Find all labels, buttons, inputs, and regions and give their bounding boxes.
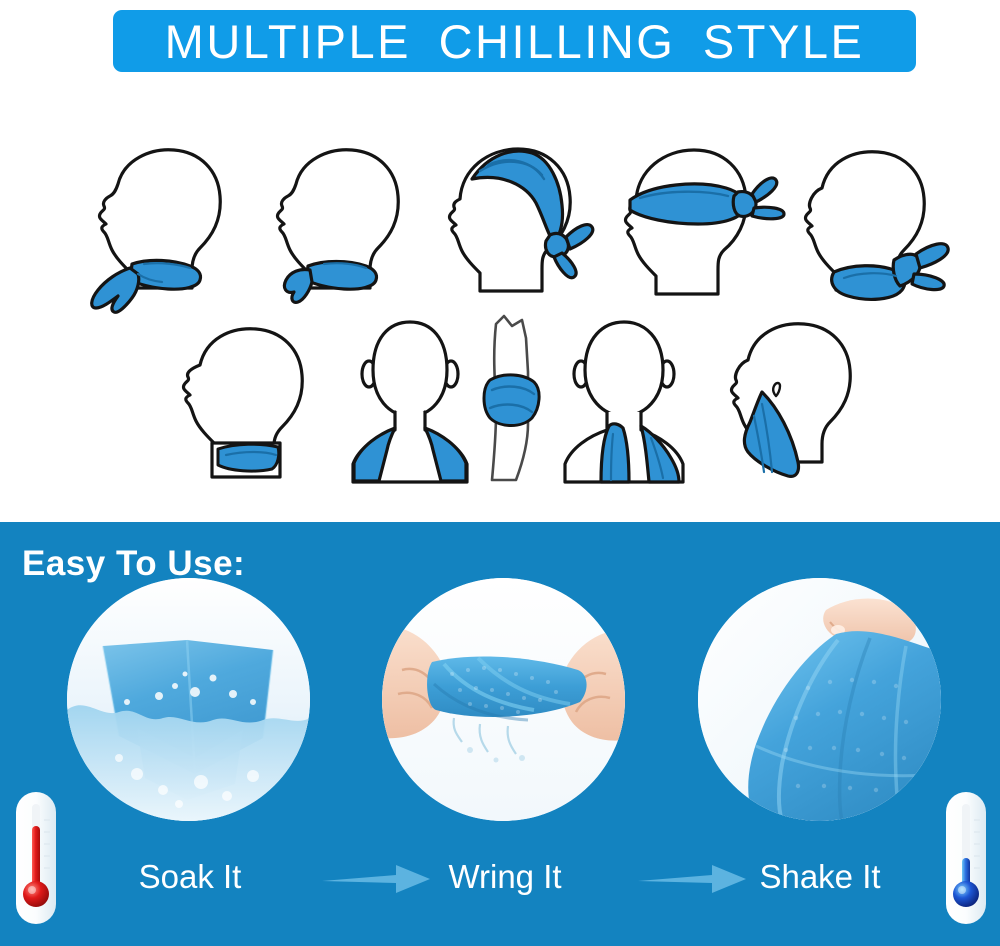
page-title: MULTIPLE CHILLING STYLE — [165, 14, 865, 69]
style-forehead-headband — [608, 138, 808, 318]
easy-to-use-heading: Easy To Use: — [22, 544, 245, 584]
style-neck-drape-front — [545, 312, 705, 492]
style-wrist-wrap — [478, 312, 548, 492]
chilling-styles-illustrations — [0, 90, 1000, 505]
style-neck-knot-profile — [250, 140, 440, 310]
style-diagonal-bandana — [432, 135, 622, 315]
arrow-right-icon-2 — [638, 862, 750, 901]
style-face-wipe — [700, 312, 900, 492]
product-infographic: MULTIPLE CHILLING STYLE — [0, 0, 1000, 946]
arrow-right-icon-1 — [322, 862, 434, 901]
photo-wring-it — [382, 578, 625, 821]
title-banner: MULTIPLE CHILLING STYLE — [113, 10, 916, 72]
thermometer-cold-icon — [944, 790, 988, 931]
step-label-soak: Soak It — [60, 858, 320, 896]
style-neck-scarf-profile — [72, 140, 262, 310]
style-neck-wrap-back — [790, 140, 990, 320]
photo-shake-it — [698, 578, 941, 821]
style-neck-gaiter — [168, 315, 358, 490]
style-shoulder-drape-front — [335, 312, 485, 492]
photo-soak-it — [67, 578, 310, 821]
thermometer-hot-icon — [14, 790, 58, 931]
